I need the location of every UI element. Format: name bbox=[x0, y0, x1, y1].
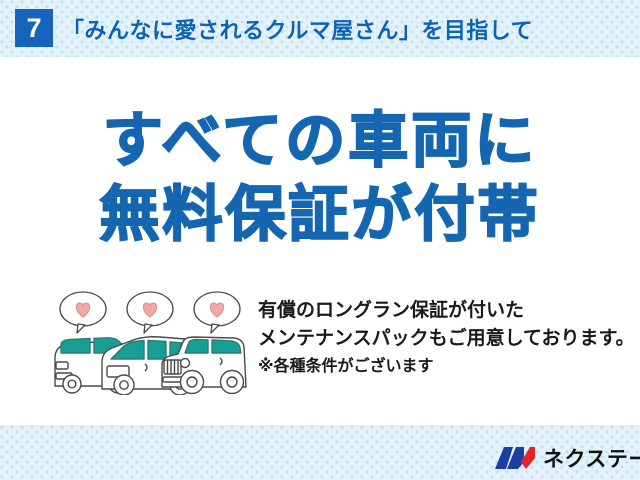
header-title: 「みんなに愛されるクルマ屋さん」を目指して bbox=[62, 13, 533, 45]
lower-content-row: 有償のロングラン保証が付いた メンテナンスパックもご用意しております。 ※各種条… bbox=[0, 290, 640, 410]
cars-with-hearts-illustration bbox=[52, 290, 250, 395]
headline: すべての車両に 無料保証が付帯 bbox=[0, 104, 640, 252]
brand-logo: ネクステージ bbox=[494, 440, 640, 476]
headline-line-2: 無料保証が付帯 bbox=[0, 178, 640, 252]
advertisement-banner: 7 「みんなに愛されるクルマ屋さん」を目指して すべての車両に 無料保証が付帯 bbox=[0, 0, 640, 480]
brand-name: ネクステージ bbox=[543, 443, 640, 473]
illustration-svg bbox=[52, 290, 250, 395]
header-step-badge: 7 bbox=[15, 9, 53, 47]
body-line-1: 有償のロングラン保証が付いた bbox=[258, 297, 633, 325]
body-copy: 有償のロングラン保証が付いた メンテナンスパックもご用意しております。 ※各種条… bbox=[258, 297, 633, 380]
body-note: ※各種条件がございます bbox=[258, 353, 633, 380]
main-content-area: すべての車両に 無料保証が付帯 bbox=[0, 57, 640, 425]
headline-line-1: すべての車両に bbox=[0, 104, 640, 178]
body-line-2: メンテナンスパックもご用意しております。 bbox=[258, 325, 633, 353]
nextage-n-logo-icon bbox=[494, 444, 536, 472]
